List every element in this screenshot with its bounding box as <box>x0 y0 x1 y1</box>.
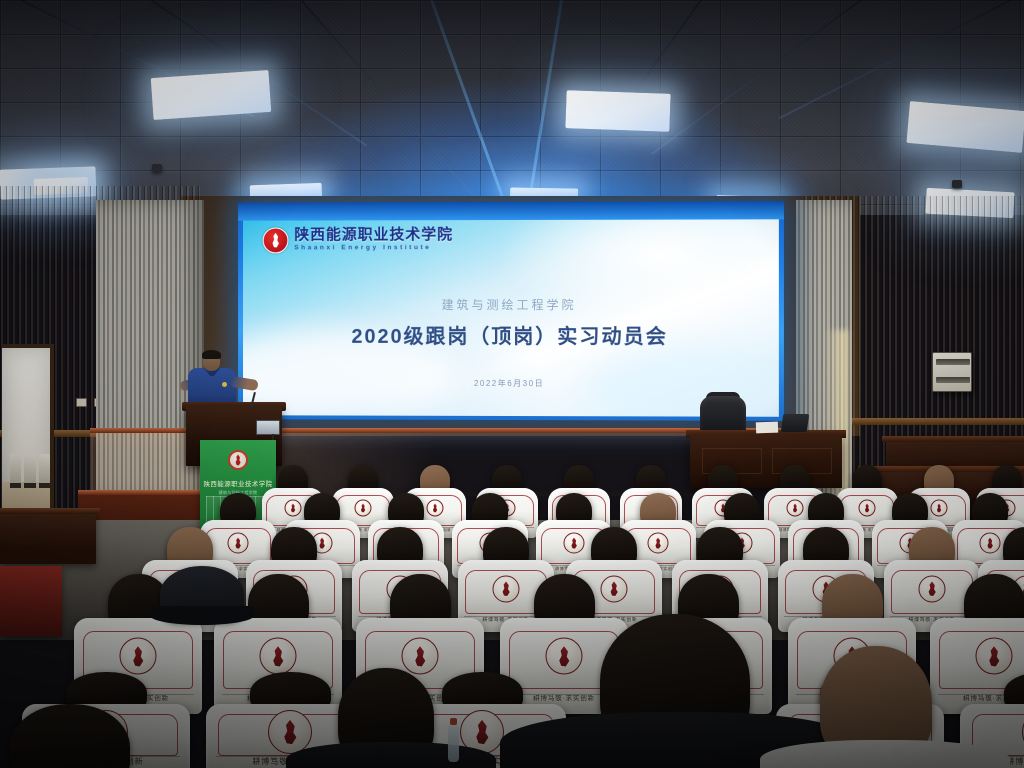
seat-flame-logo-icon <box>427 500 444 517</box>
seat-flame-logo-icon <box>120 638 157 675</box>
bin-icon <box>10 454 21 488</box>
wall-socket[interactable] <box>76 398 87 407</box>
seat-flame-logo-icon <box>859 500 876 517</box>
seat-flame-logo-icon <box>268 710 312 754</box>
seat-flame-logo-icon <box>648 533 669 554</box>
side-desk <box>0 512 96 564</box>
seat-flame-logo-icon <box>493 575 520 602</box>
ceiling <box>0 0 1024 215</box>
office-chair <box>700 396 746 434</box>
seat-flame-logo-icon <box>285 500 302 517</box>
slide-subtitle: 建筑与测绘工程学院 <box>243 296 779 313</box>
speaker-badge <box>222 382 227 387</box>
seat-flame-logo-icon <box>564 533 585 554</box>
institution-name-cn: 陕西能源职业技术学院 <box>294 228 453 243</box>
laptop-icon[interactable] <box>781 414 810 432</box>
glasses-icon <box>204 358 219 361</box>
bin-icon <box>24 454 35 488</box>
seat-flame-logo-icon <box>228 533 249 554</box>
bin-icon <box>39 454 50 488</box>
slide-date: 2022年6月30日 <box>243 378 779 390</box>
sprinkler-icon <box>952 180 962 188</box>
side-seat <box>0 566 62 636</box>
banner-institution: 陕西能源职业技术学院 <box>200 478 276 488</box>
side-desk-top <box>0 508 100 514</box>
seat-flame-logo-icon <box>601 575 628 602</box>
seat-flame-logo-icon <box>976 638 1013 675</box>
seat-flame-logo-icon <box>931 500 948 517</box>
seat-flame-logo-icon <box>546 638 583 675</box>
person-shoulders <box>286 742 496 768</box>
water-bottle-icon[interactable] <box>448 724 459 762</box>
ceiling-panel-light <box>151 70 272 120</box>
paper-on-table <box>756 422 778 434</box>
slide-institution-logo: 陕西能源职业技术学院 Shaanxi Energy Institute <box>263 227 453 253</box>
seat-flame-logo-icon <box>260 638 297 675</box>
seat-flame-logo-icon <box>980 533 1001 554</box>
presentation-slide: 陕西能源职业技术学院 Shaanxi Energy Institute 建筑与测… <box>243 219 779 416</box>
screen-bezel <box>238 201 784 220</box>
sprinkler-icon <box>152 164 162 172</box>
air-conditioner-icon <box>932 352 972 392</box>
slide-title: 2020级跟岗（顶岗）实习动员会 <box>243 320 779 349</box>
auditorium-scene: 陕西能源职业技术学院 Shaanxi Energy Institute 建筑与测… <box>0 0 1024 768</box>
flame-emblem-icon <box>228 450 248 470</box>
person-cap <box>160 566 244 622</box>
seat-flame-logo-icon <box>355 500 372 517</box>
ceiling-panel-light <box>565 90 670 132</box>
seat-flame-logo-icon <box>787 500 804 517</box>
podium-monitor <box>256 420 280 435</box>
seat-flame-logo-icon <box>919 575 946 602</box>
flame-emblem-icon <box>263 228 289 254</box>
back-bench-top <box>882 436 1024 442</box>
seat-flame-logo-icon <box>402 638 439 675</box>
slide-highlight-dot <box>747 264 752 269</box>
led-screen: 陕西能源职业技术学院 Shaanxi Energy Institute 建筑与测… <box>238 201 784 421</box>
corridor-bins <box>10 454 50 488</box>
person-shoulders <box>760 740 1010 768</box>
institution-name-en: Shaanxi Energy Institute <box>294 245 453 252</box>
